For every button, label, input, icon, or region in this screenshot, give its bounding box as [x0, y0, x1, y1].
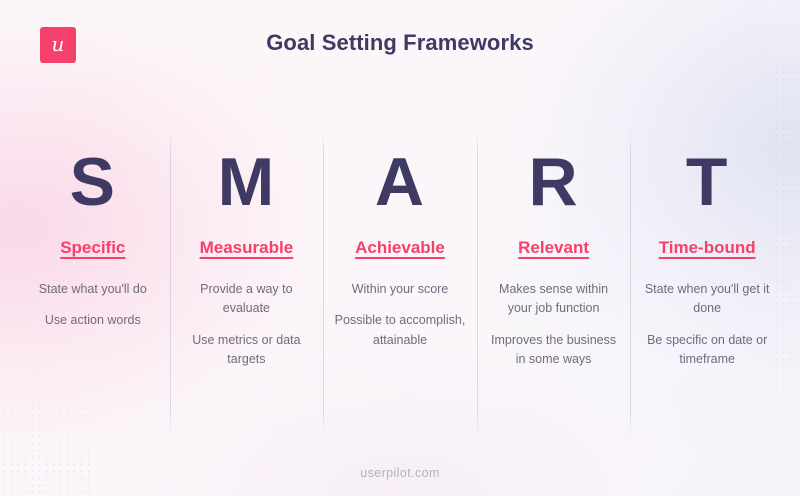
letter-r: R — [483, 148, 625, 216]
smart-columns: S Specific State what you'll do Use acti… — [16, 130, 784, 436]
description-time-bound: State when you'll get it done Be specifi… — [636, 280, 778, 370]
description-specific: State what you'll do Use action words — [22, 280, 164, 331]
description-line: Provide a way to evaluate — [176, 280, 318, 319]
header: u Goal Setting Frameworks — [0, 0, 800, 92]
letter-s: S — [22, 148, 164, 216]
column-achievable: A Achievable Within your score Possible … — [323, 130, 477, 436]
description-line: Within your score — [329, 280, 471, 299]
column-relevant: R Relevant Makes sense within your job f… — [477, 130, 631, 436]
letter-t: T — [636, 148, 778, 216]
term-relevant: Relevant — [483, 238, 625, 258]
term-time-bound: Time-bound — [636, 238, 778, 258]
description-line: Be specific on date or timeframe — [636, 331, 778, 370]
description-measurable: Provide a way to evaluate Use metrics or… — [176, 280, 318, 370]
description-line: Improves the business in some ways — [483, 331, 625, 370]
description-line: State what you'll do — [22, 280, 164, 299]
description-achievable: Within your score Possible to accomplish… — [329, 280, 471, 350]
description-line: Use action words — [22, 311, 164, 330]
footer-attribution: userpilot.com — [0, 466, 800, 480]
description-relevant: Makes sense within your job function Imp… — [483, 280, 625, 370]
letter-m: M — [176, 148, 318, 216]
letter-a: A — [329, 148, 471, 216]
term-measurable: Measurable — [176, 238, 318, 258]
description-line: State when you'll get it done — [636, 280, 778, 319]
term-achievable: Achievable — [329, 238, 471, 258]
column-time-bound: T Time-bound State when you'll get it do… — [630, 130, 784, 436]
smart-goals-infographic: u Goal Setting Frameworks S Specific Sta… — [0, 0, 800, 496]
column-specific: S Specific State what you'll do Use acti… — [16, 130, 170, 436]
description-line: Possible to accomplish, attainable — [329, 311, 471, 350]
description-line: Makes sense within your job function — [483, 280, 625, 319]
column-measurable: M Measurable Provide a way to evaluate U… — [170, 130, 324, 436]
description-line: Use metrics or data targets — [176, 331, 318, 370]
page-title: Goal Setting Frameworks — [0, 30, 800, 56]
term-specific: Specific — [22, 238, 164, 258]
